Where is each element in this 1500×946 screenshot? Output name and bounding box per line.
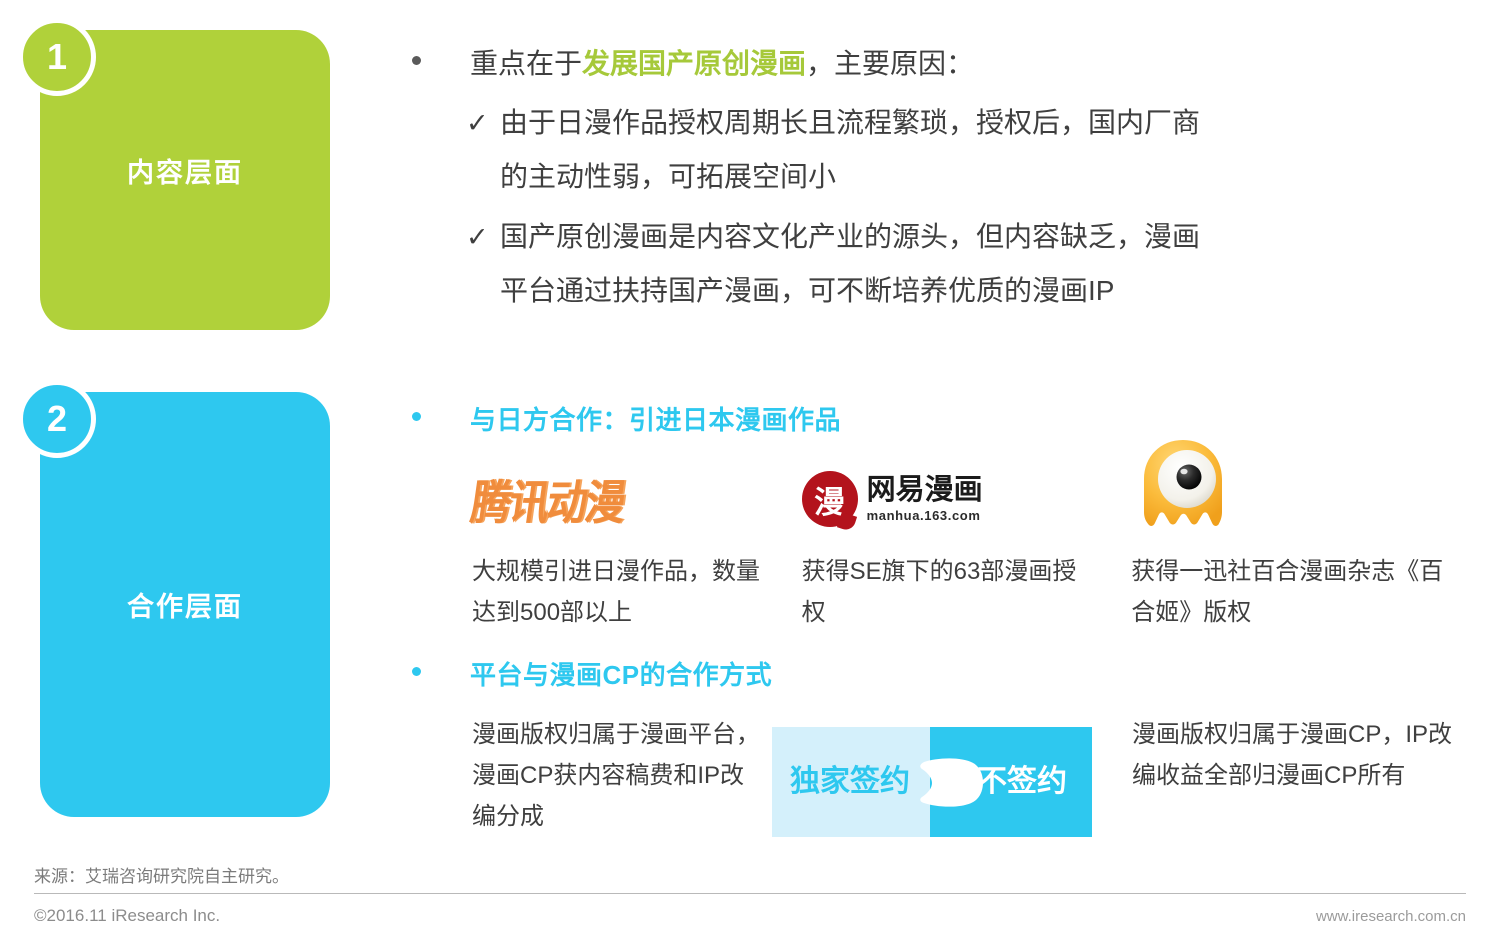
youyaoqi-ghost-logo	[1131, 435, 1452, 539]
check-line: 平台通过扶持国产漫画，可不断培养优质的漫画IP	[500, 264, 1460, 318]
puzzle-left-label: 独家签约	[790, 764, 910, 798]
content-column: 重点在于发展国产原创漫画，主要原因： ✓ 由于日漫作品授权周期长且流程繁琐，授权…	[400, 0, 1500, 846]
bullet-dot-icon	[412, 412, 421, 421]
tencent-comics-logo: 腾讯动漫	[472, 459, 764, 539]
tencent-comics-wordmark: 腾讯动漫	[467, 465, 629, 533]
netease-bubble-char: 漫	[814, 477, 845, 522]
section-badge-2: 2	[18, 380, 96, 458]
check-line: 由于日漫作品授权周期长且流程繁琐，授权后，国内厂商	[500, 96, 1460, 150]
bullet-dot-icon	[412, 667, 421, 676]
section-badge-number: 1	[47, 36, 67, 78]
section-card-label: 合作层面	[127, 585, 243, 624]
partner-caption: 获得一迅社百合漫画杂志《百合姬》版权	[1131, 551, 1452, 633]
lead-prefix: 重点在于	[470, 48, 582, 79]
netease-comics-logo: 漫 网易漫画 manhua.163.com	[802, 459, 1094, 539]
check-line: 国产原创漫画是内容文化产业的源头，但内容缺乏，漫画	[500, 210, 1460, 264]
partner-caption: 获得SE旗下的63部漫画授权	[802, 551, 1094, 633]
lead-suffix: ，主要原因：	[806, 48, 974, 79]
partner-column: 腾讯动漫 大规模引进日漫作品，数量达到500部以上	[472, 459, 764, 633]
section-badge-number: 2	[47, 398, 67, 440]
puzzle-right-label: 不签约	[977, 764, 1067, 798]
partner-columns: 腾讯动漫 大规模引进日漫作品，数量达到500部以上 漫 网易漫画 manhua.…	[400, 459, 1490, 633]
source-note: 来源：艾瑞咨询研究院自主研究。	[34, 862, 289, 887]
section1-body: 重点在于发展国产原创漫画，主要原因： ✓ 由于日漫作品授权周期长且流程繁琐，授权…	[400, 44, 1460, 318]
cooperation-modes: 漫画版权归属于漫画平台，漫画CP获内容稿费和IP改编分成 独家签约 不签约 漫画…	[400, 714, 1490, 837]
lead-highlight: 发展国产原创漫画	[582, 48, 806, 79]
copyright-text: ©2016.11 iResearch Inc.	[34, 906, 220, 926]
slide-canvas: 内容层面 1 重点在于发展国产原创漫画，主要原因： ✓ 由于日漫作品授权周期长且…	[0, 0, 1500, 946]
section1-lead: 重点在于发展国产原创漫画，主要原因：	[400, 44, 1460, 84]
ghost-mascot-icon	[1131, 435, 1235, 539]
cooperation-right-text: 漫画版权归属于漫画CP，IP改编收益全部归漫画CP所有	[1132, 714, 1462, 796]
partner-column: 漫 网易漫画 manhua.163.com 获得SE旗下的63部漫画授权	[802, 459, 1094, 633]
footer-divider	[34, 893, 1466, 894]
section-card-cooperation: 合作层面	[40, 392, 330, 817]
website-link[interactable]: www.iresearch.com.cn	[1316, 908, 1466, 925]
section2-block-b: 平台与漫画CP的合作方式 漫画版权归属于漫画平台，漫画CP获内容稿费和IP改编分…	[400, 655, 1490, 837]
partner-caption: 大规模引进日漫作品，数量达到500部以上	[472, 551, 764, 633]
check-icon: ✓	[466, 96, 489, 150]
netease-bubble-icon: 漫	[802, 471, 858, 527]
netease-wordmark: 网易漫画	[867, 476, 983, 505]
puzzle-svg: 独家签约 不签约	[772, 727, 1092, 837]
puzzle-graphic: 独家签约 不签约	[772, 727, 1092, 837]
section2-heading-a: 与日方合作：引进日本漫画作品	[400, 400, 1490, 437]
check-icon: ✓	[466, 210, 489, 264]
partner-column: 获得一迅社百合漫画杂志《百合姬》版权	[1131, 459, 1452, 633]
cooperation-left-text: 漫画版权归属于漫画平台，漫画CP获内容稿费和IP改编分成	[472, 714, 764, 837]
netease-url: manhua.163.com	[867, 509, 983, 522]
check-item: ✓ 由于日漫作品授权周期长且流程繁琐，授权后，国内厂商 的主动性弱，可拓展空间小	[400, 96, 1460, 204]
section2-block-a: 与日方合作：引进日本漫画作品 腾讯动漫 大规模引进日漫作品，数量达到500部以上…	[400, 400, 1490, 633]
check-item: ✓ 国产原创漫画是内容文化产业的源头，但内容缺乏，漫画 平台通过扶持国产漫画，可…	[400, 210, 1460, 318]
check-line: 的主动性弱，可拓展空间小	[500, 150, 1460, 204]
section-badge-1: 1	[18, 18, 96, 96]
bullet-dot-icon	[412, 56, 421, 65]
section2-heading-b: 平台与漫画CP的合作方式	[400, 655, 1490, 692]
section-card-label: 内容层面	[127, 151, 243, 190]
